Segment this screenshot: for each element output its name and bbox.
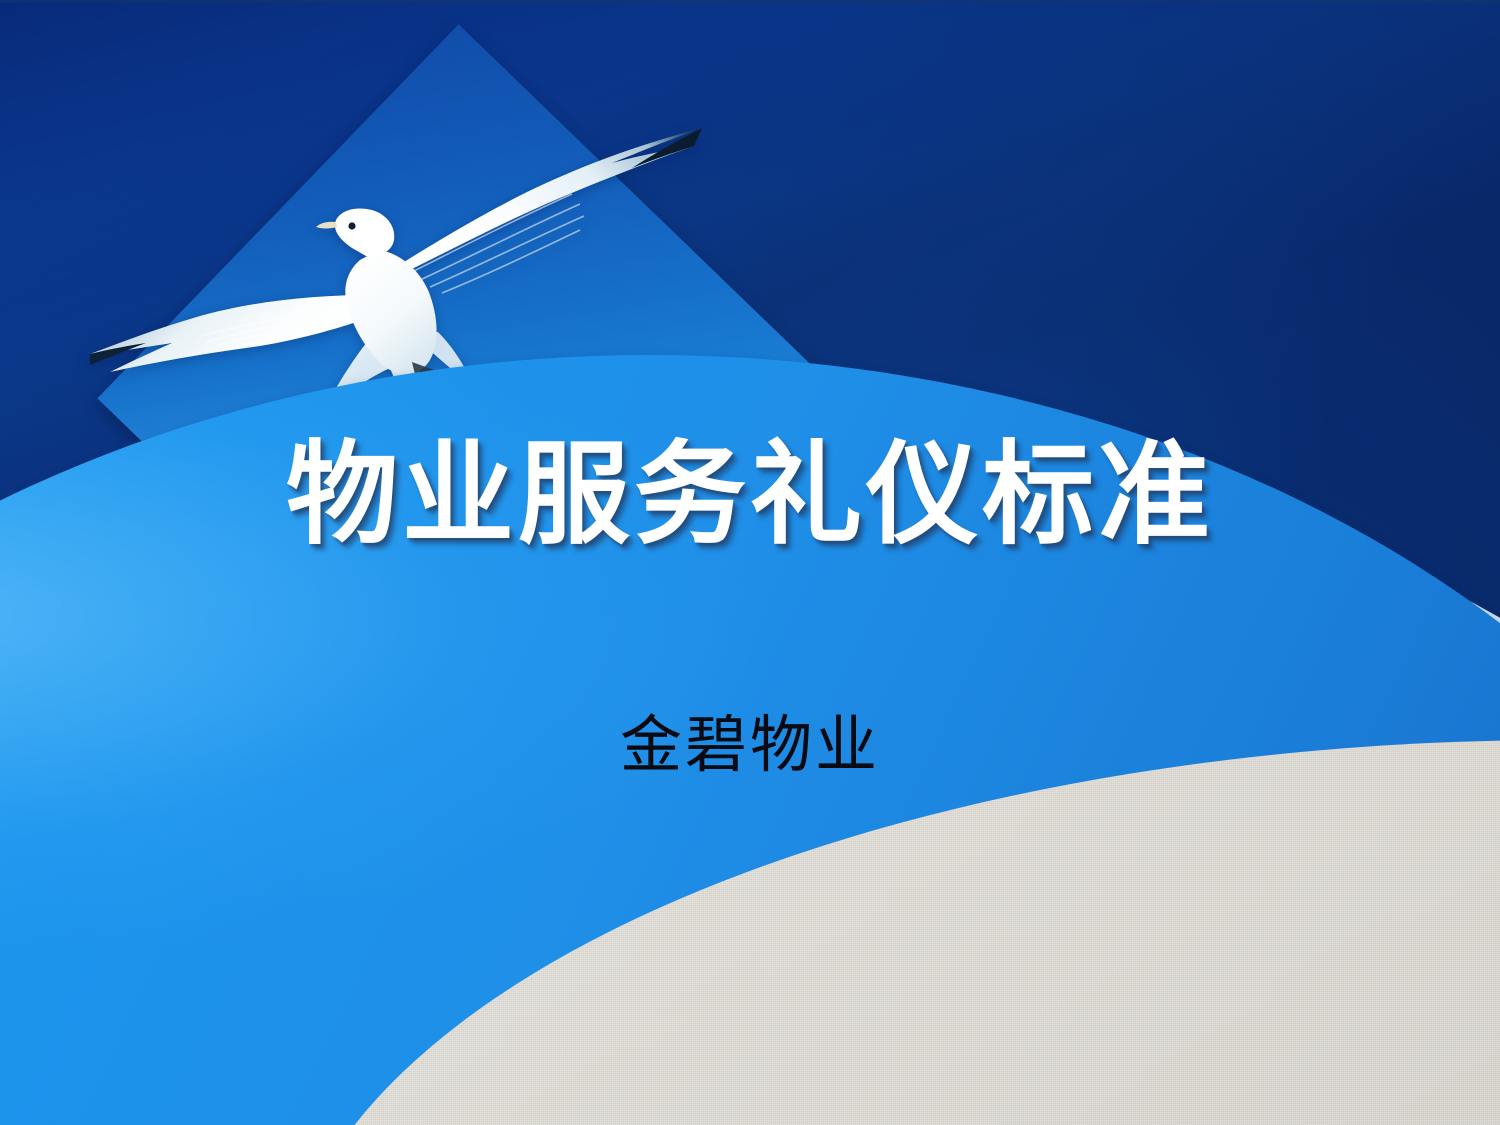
- page-subtitle: 金碧物业: [0, 694, 1500, 784]
- page-title: 物业服务礼仪标准: [0, 432, 1500, 557]
- slide-top-edge: [0, 0, 1500, 3]
- presentation-slide: 物业服务礼仪标准 金碧物业: [0, 0, 1500, 1125]
- sky-navy-overlay-left: [0, 0, 1500, 1125]
